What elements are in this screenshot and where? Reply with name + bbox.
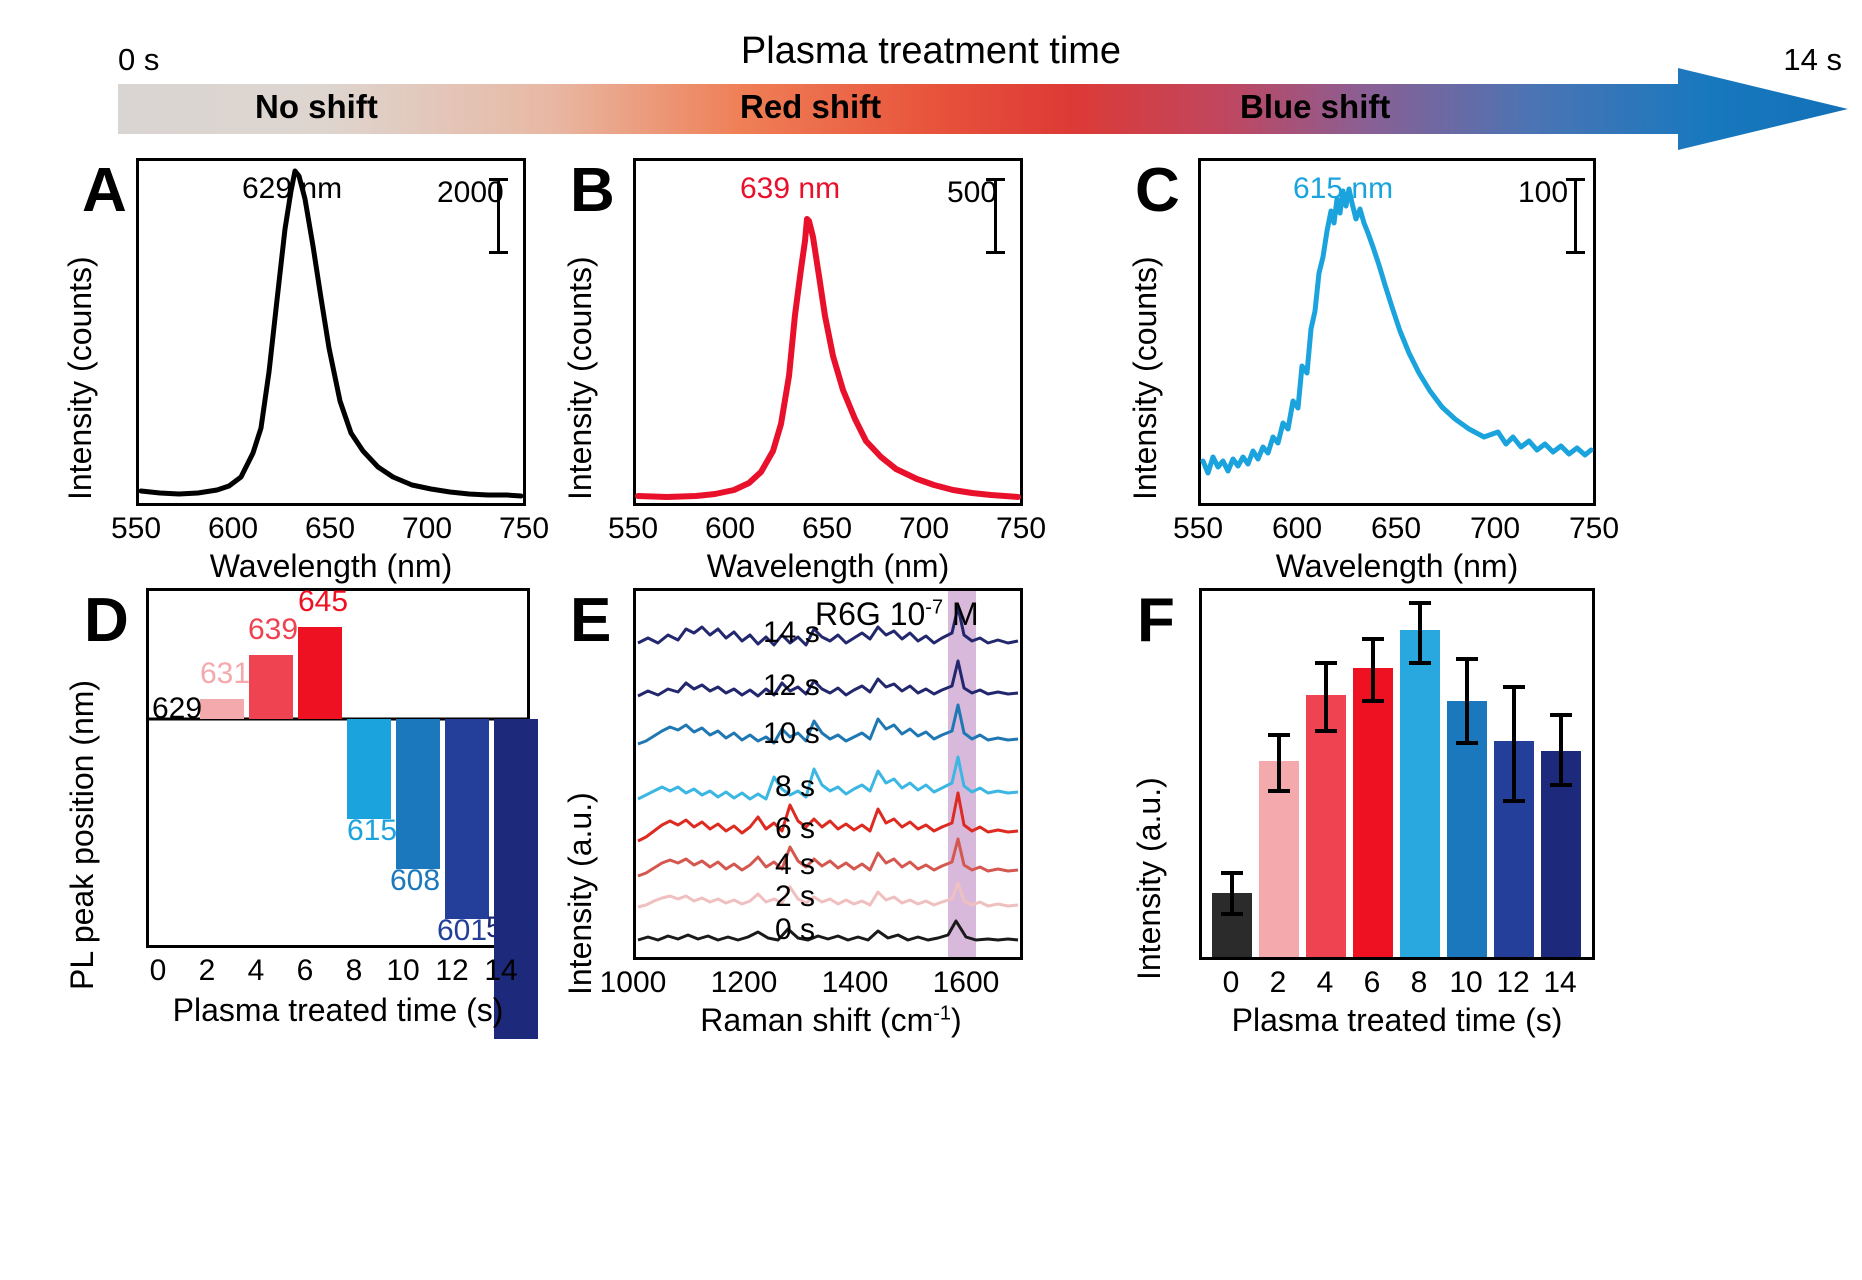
panel-c-xtick-0: 550 <box>1160 512 1236 546</box>
panel-f-bars <box>1202 591 1592 957</box>
panel-b-scale-label: 500 <box>947 176 997 210</box>
panel-e-xtick-1: 1200 <box>696 966 792 1000</box>
panel-f-letter: F <box>1137 590 1175 652</box>
panel-e-series-label-4s: 4 s <box>775 848 815 882</box>
panel-d-ylabel: PL peak position (nm) <box>64 680 101 990</box>
panel-d-bar-6s <box>298 627 342 719</box>
panel-c-scale-label: 100 <box>1518 176 1568 210</box>
panel-c-peak-label: 615 nm <box>1293 172 1393 206</box>
panel-d: D PL peak position (nm) 629 631 639 645 … <box>0 580 640 1050</box>
panel-d-value-14s: 584 <box>486 911 536 945</box>
panel-e-xtick-3: 1600 <box>918 966 1014 1000</box>
panel-e-letter: E <box>570 590 611 652</box>
panel-c-xtick-1: 600 <box>1259 512 1335 546</box>
panel-b-scalebar-bottom-cap <box>986 251 1005 254</box>
panel-a-xtick-0: 550 <box>98 512 174 546</box>
panel-e-spectra <box>636 591 1020 957</box>
panel-e-xlabel-main: Raman shift (cm <box>700 1002 933 1038</box>
panel-d-xtick-7: 14 <box>465 954 537 988</box>
panel-e-xtick-0: 1000 <box>585 966 681 1000</box>
panel-e-title-tail: M <box>943 596 979 632</box>
panel-e-title-main: R6G 10 <box>815 596 925 632</box>
panel-a-curve <box>139 161 523 503</box>
panel-c-ylabel: Intensity (counts) <box>1127 256 1164 500</box>
panel-b-xtick-4: 750 <box>983 512 1059 546</box>
panel-e-xtick-2: 1400 <box>807 966 903 1000</box>
panel-e: E Intensity (a.u.) R6G 10-7 M 14 s 12 s … <box>565 580 1205 1050</box>
panel-b-peak-label: 639 nm <box>740 172 840 206</box>
panel-b-xtick-0: 550 <box>595 512 671 546</box>
panel-b-plot <box>633 158 1023 506</box>
banner-title: Plasma treatment time <box>0 30 1862 73</box>
panel-a-letter: A <box>82 160 127 222</box>
panel-c-curve <box>1201 161 1593 503</box>
panel-e-series-label-8s: 8 s <box>775 770 815 804</box>
panel-d-value-0s: 629 <box>152 692 202 726</box>
panel-e-xlabel: Raman shift (cm-1) <box>611 1002 1051 1039</box>
panel-f-xtick-7: 14 <box>1522 966 1598 1000</box>
panel-d-bar-12s <box>445 719 489 919</box>
panel-d-bar-14s <box>494 719 538 1039</box>
panel-c-scalebar-bottom-cap <box>1566 251 1585 254</box>
panel-c: C Intensity (counts) 615 nm 100 550 600 … <box>1135 150 1835 570</box>
panel-e-series-label-14s: 14 s <box>763 616 820 650</box>
panel-d-value-12s: 601 <box>437 914 487 948</box>
panel-f-ylabel: Intensity (a.u.) <box>1131 777 1168 980</box>
panel-c-plot <box>1198 158 1596 506</box>
panel-b-xtick-1: 600 <box>692 512 768 546</box>
panel-f-bar-4s <box>1306 695 1346 957</box>
panel-f: F Intensity (a.u.) <box>1135 580 1835 1050</box>
panel-c-scalebar-top-cap <box>1566 178 1585 181</box>
panel-b-letter: B <box>570 160 615 222</box>
panel-f-bar-6s <box>1353 668 1393 957</box>
panel-b-curve <box>636 161 1020 503</box>
band-label-red-shift: Red shift <box>740 88 881 126</box>
panel-f-bar-8s <box>1400 630 1440 957</box>
panel-e-series-label-10s: 10 s <box>763 717 820 751</box>
panel-b-ylabel: Intensity (counts) <box>562 256 599 500</box>
panel-d-letter: D <box>84 590 129 652</box>
panel-d-value-10s: 608 <box>390 864 440 898</box>
panel-d-bar-2s <box>200 699 244 719</box>
panel-e-series-label-2s: 2 s <box>775 880 815 914</box>
panel-c-letter: C <box>1135 160 1180 222</box>
panel-d-value-6s: 645 <box>298 585 348 619</box>
panel-c-xtick-2: 650 <box>1358 512 1434 546</box>
panel-f-xlabel: Plasma treated time (s) <box>1169 1002 1625 1039</box>
panel-c-xtick-4: 750 <box>1556 512 1632 546</box>
panel-d-plot <box>146 588 530 948</box>
panel-f-plot <box>1199 588 1595 960</box>
panel-e-series-label-0s: 0 s <box>775 913 815 947</box>
panel-e-series-label-12s: 12 s <box>763 669 820 703</box>
band-label-blue-shift: Blue shift <box>1240 88 1390 126</box>
panel-a-xtick-4: 750 <box>486 512 562 546</box>
panel-b-xtick-3: 700 <box>886 512 962 546</box>
panel-a-xtick-2: 650 <box>292 512 368 546</box>
panel-e-xlabel-sup: -1 <box>933 1002 951 1024</box>
panel-d-xlabel: Plasma treated time (s) <box>116 992 560 1029</box>
panel-d-value-4s: 639 <box>248 613 298 647</box>
plasma-time-banner: Plasma treatment time 0 s 14 s <box>0 0 1862 150</box>
panel-d-bar-4s <box>249 655 293 719</box>
panel-d-bar-8s <box>347 719 391 819</box>
panel-a-plot <box>136 158 526 506</box>
panel-e-title: R6G 10-7 M <box>815 596 979 633</box>
panel-b-xtick-2: 650 <box>789 512 865 546</box>
panel-d-bar-10s <box>396 719 440 869</box>
panel-a-ylabel: Intensity (counts) <box>62 256 99 500</box>
panel-a: A Intensity (counts) 629 nm 2000 550 600… <box>0 150 640 570</box>
band-label-no-shift: No shift <box>255 88 378 126</box>
panel-e-ylabel: Intensity (a.u.) <box>562 792 599 995</box>
panel-a-scalebar-bottom-cap <box>489 251 508 254</box>
panel-a-xtick-1: 600 <box>195 512 271 546</box>
panel-b: B Intensity (counts) 639 nm 500 550 600 … <box>565 150 1205 570</box>
panel-e-title-sup: -7 <box>925 596 943 618</box>
panel-e-series-label-6s: 6 s <box>775 812 815 846</box>
panel-c-scalebar <box>1574 178 1577 254</box>
panel-a-peak-label: 629 nm <box>242 172 342 206</box>
panel-d-bars <box>149 591 527 945</box>
panel-c-xtick-3: 700 <box>1457 512 1533 546</box>
panel-e-plot <box>633 588 1023 960</box>
panel-d-value-8s: 615 <box>347 814 397 848</box>
panel-a-scale-label: 2000 <box>437 176 504 210</box>
panel-a-xtick-3: 700 <box>389 512 465 546</box>
banner-start-time: 0 s <box>118 42 159 78</box>
panel-d-value-2s: 631 <box>200 657 250 691</box>
panel-e-xlabel-tail: ) <box>951 1002 962 1038</box>
banner-end-time: 14 s <box>1783 42 1842 78</box>
